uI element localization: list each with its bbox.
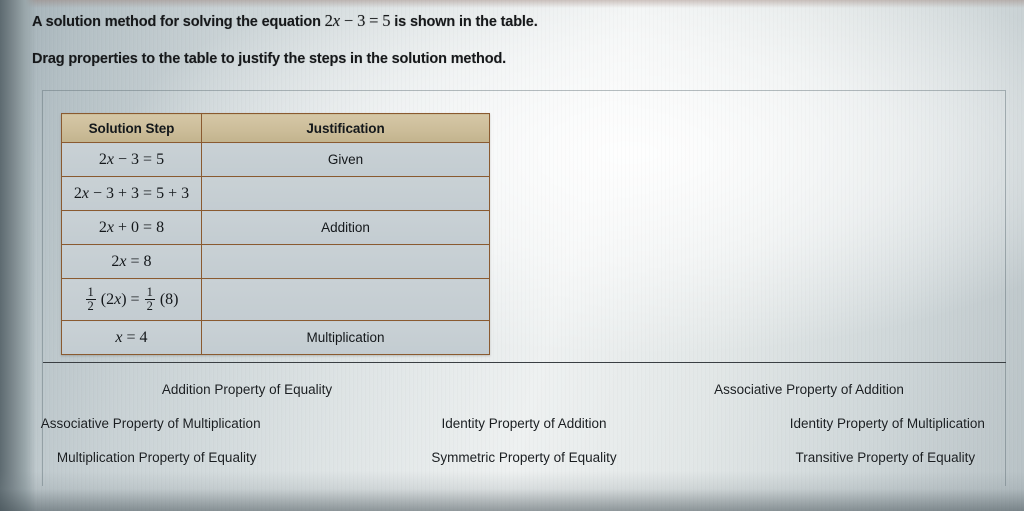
property-choice-identity-property-of-multiplication[interactable]: Identity Property of Multiplication: [727, 416, 1024, 431]
justification-dropzone[interactable]: Given: [202, 143, 490, 177]
justification-text: Multiplication: [306, 330, 384, 345]
solution-step-cell: 2x + 0 = 8: [62, 211, 202, 245]
table-header-row: Solution Step Justification: [62, 114, 490, 143]
justification-dropzone[interactable]: Addition: [202, 211, 490, 245]
property-choices-row-3: Multiplication Property of Equality Symm…: [42, 440, 1006, 474]
property-choice-symmetric-property-of-equality[interactable]: Symmetric Property of Equality: [363, 450, 684, 465]
section-divider: [43, 362, 1006, 363]
property-choice-identity-property-of-addition[interactable]: Identity Property of Addition: [363, 416, 684, 431]
solution-step-cell: 2x − 3 = 5: [62, 143, 202, 177]
table-row: 2x − 3 = 5 Given: [62, 143, 490, 177]
worksheet-screenshot: A solution method for solving the equati…: [0, 0, 1024, 511]
solution-step-cell: 2x − 3 + 3 = 5 + 3: [62, 177, 202, 211]
column-header-justification: Justification: [202, 114, 490, 143]
property-choices-bank: Addition Property of Equality Associativ…: [42, 372, 1006, 474]
table-row: 2x = 8: [62, 245, 490, 279]
justification-dropzone[interactable]: [202, 245, 490, 279]
column-header-solution-step: Solution Step: [62, 114, 202, 143]
justification-dropzone[interactable]: [202, 177, 490, 211]
prompt-equation: 2x − 3 = 5: [325, 11, 391, 30]
table-row: 12 (2x) = 12 (8): [62, 279, 490, 321]
solution-step-cell: 12 (2x) = 12 (8): [62, 279, 202, 321]
property-choice-multiplication-property-of-equality[interactable]: Multiplication Property of Equality: [0, 450, 317, 465]
justification-text: Given: [328, 152, 363, 167]
property-choice-associative-property-of-addition[interactable]: Associative Property of Addition: [568, 382, 1024, 397]
property-choices-row-1: Addition Property of Equality Associativ…: [42, 372, 1006, 406]
justification-dropzone[interactable]: Multiplication: [202, 321, 490, 355]
property-choice-addition-property-of-equality[interactable]: Addition Property of Equality: [6, 382, 488, 397]
table-row: 2x + 0 = 8 Addition: [62, 211, 490, 245]
solution-step-cell: 2x = 8: [62, 245, 202, 279]
justification-text: Addition: [321, 220, 370, 235]
prompt-line-1-before: A solution method for solving the equati…: [32, 14, 325, 30]
table-row: x = 4 Multiplication: [62, 321, 490, 355]
solution-method-table: Solution Step Justification 2x − 3 = 5 G…: [61, 113, 490, 355]
property-choice-associative-property-of-multiplication[interactable]: Associative Property of Multiplication: [0, 416, 311, 431]
property-choice-transitive-property-of-equality[interactable]: Transitive Property of Equality: [725, 450, 1024, 465]
justification-dropzone[interactable]: [202, 279, 490, 321]
prompt-line-2: Drag properties to the table to justify …: [32, 51, 506, 67]
prompt-line-1-after: is shown in the table.: [390, 14, 537, 30]
table-row: 2x − 3 + 3 = 5 + 3: [62, 177, 490, 211]
prompt-line-1: A solution method for solving the equati…: [32, 11, 538, 31]
property-choices-row-2: Associative Property of Multiplication I…: [42, 406, 1006, 440]
solution-step-cell: x = 4: [62, 321, 202, 355]
